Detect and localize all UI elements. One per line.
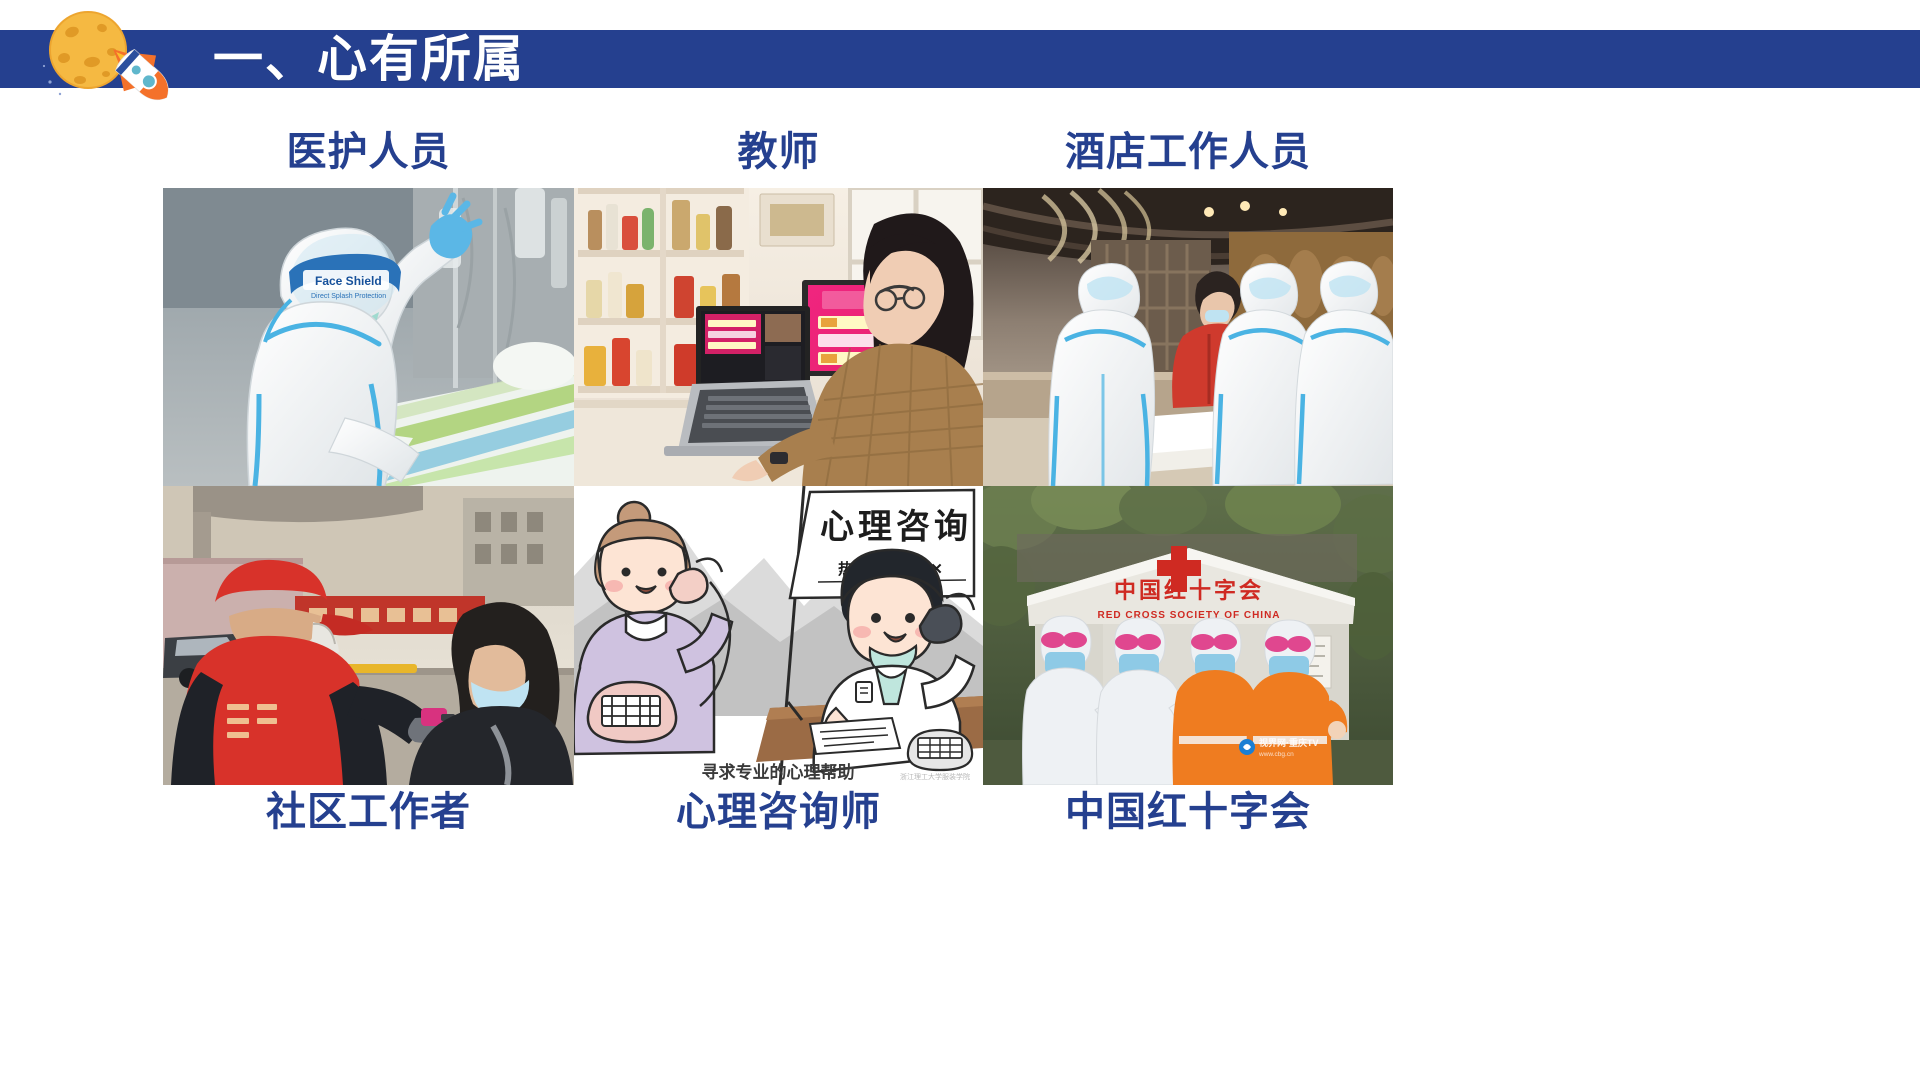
- svg-text:视界网·重庆TV: 视界网·重庆TV: [1259, 737, 1319, 748]
- photo-chinese-red-cross: 中国红十字会 RED CROSS SOCIETY OF CHINA: [983, 486, 1393, 785]
- caption-chinese-red-cross: 中国红十字会: [983, 788, 1393, 836]
- page-title: 一、心有所属: [213, 28, 525, 90]
- photo-grid: Face Shield Direct Splash Protection: [163, 188, 1393, 785]
- photo-hotel-staff: [983, 188, 1393, 486]
- caption-psychological-counselor: 心理咨询师: [574, 788, 983, 836]
- svg-text:www.cbg.cn: www.cbg.cn: [1258, 751, 1294, 758]
- svg-text:Direct Splash Protection: Direct Splash Protection: [311, 293, 386, 300]
- illustration-credit: 浙江理工大学服装学院: [900, 772, 970, 781]
- svg-text:心理咨询: 心理咨询: [820, 508, 972, 546]
- planet-rocket-icon: [36, 6, 186, 106]
- photo-teacher: [574, 188, 983, 486]
- photo-medical-staff: Face Shield Direct Splash Protection: [163, 188, 574, 486]
- caption-community-worker: 社区工作者: [163, 788, 574, 836]
- illustration-slogan: 寻求专业的心理帮助: [702, 762, 855, 782]
- svg-text:Face Shield: Face Shield: [315, 274, 382, 288]
- tent-text-english: RED CROSS SOCIETY OF CHINA: [1097, 610, 1280, 621]
- caption-hotel-staff: 酒店工作人员: [983, 128, 1393, 176]
- slide-canvas: 一、心有所属 医护人员 教师 酒店工作人员: [0, 0, 1920, 1080]
- tent-text-chinese: 中国红十字会: [1114, 578, 1264, 603]
- caption-teacher: 教师: [574, 128, 983, 176]
- photo-community-worker: [163, 486, 574, 785]
- caption-medical-staff: 医护人员: [163, 128, 574, 176]
- illustration-psychological-counselor: 心理咨询 热线: ✕ ✕ ✕ ✕: [574, 486, 983, 785]
